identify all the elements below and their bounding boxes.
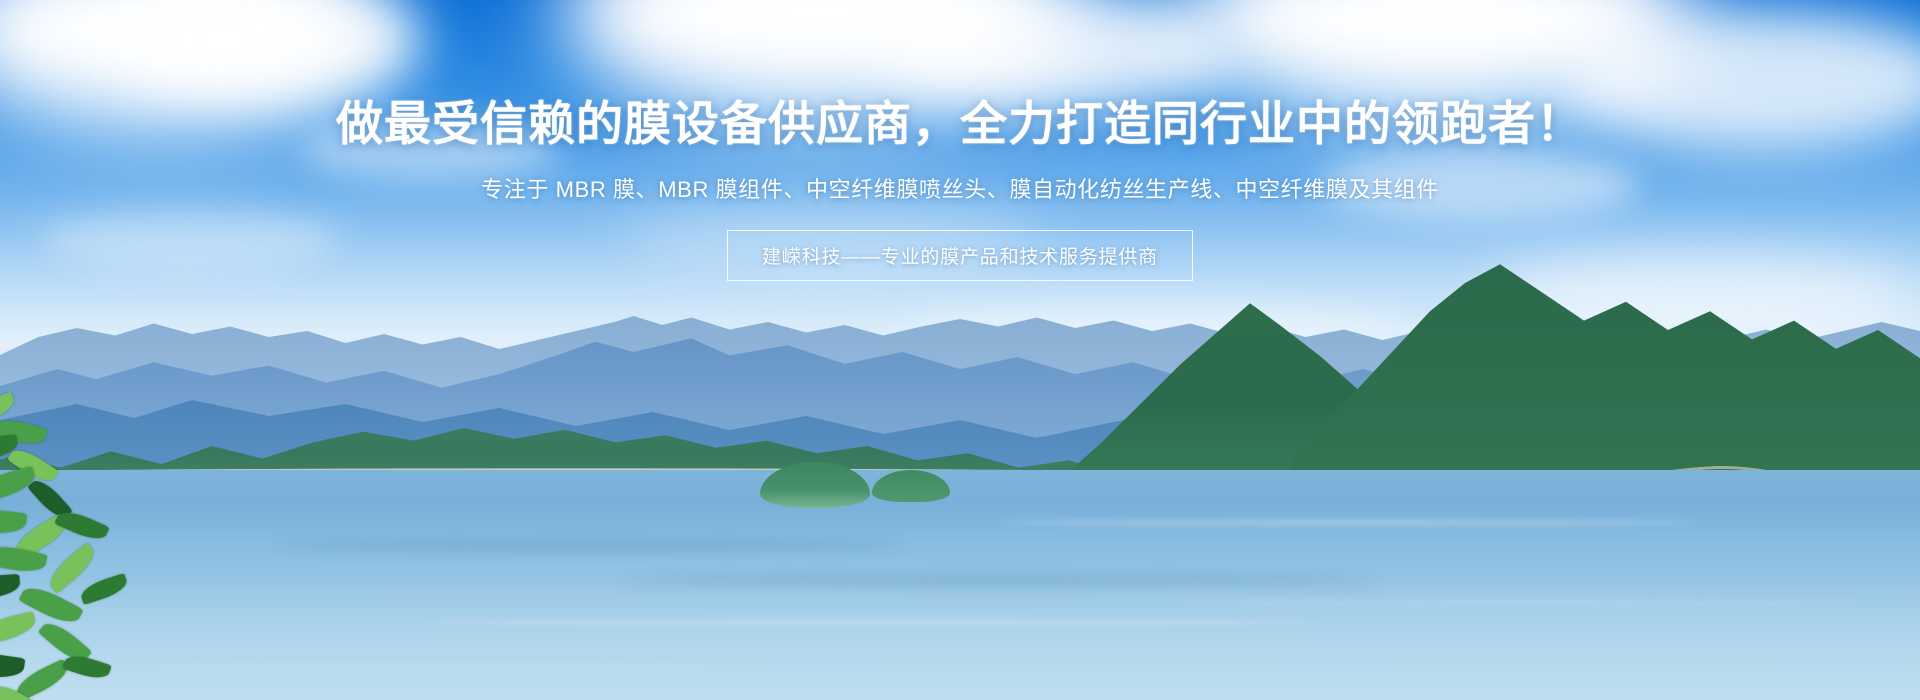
banner-headline: 做最受信赖的膜设备供应商，全力打造同行业中的领跑者！ xyxy=(336,99,1584,152)
cloud-shape xyxy=(40,210,340,270)
tagline-box: 建嵘科技——专业的膜产品和技术服务提供商 xyxy=(727,230,1193,281)
water-highlight xyxy=(1180,600,1860,605)
foreground-tree xyxy=(0,370,230,700)
water-highlight xyxy=(1000,520,1700,525)
water-reflection xyxy=(280,540,900,550)
banner-subtitle: 专注于 MBR 膜、MBR 膜组件、中空纤维膜喷丝头、膜自动化纺丝生产线、中空纤… xyxy=(481,176,1439,205)
water-reflection xyxy=(620,575,1380,585)
hero-banner: 做最受信赖的膜设备供应商，全力打造同行业中的领跑者！ 专注于 MBR 膜、MBR… xyxy=(0,0,1920,700)
water-highlight xyxy=(420,620,1320,625)
banner-tagline: 建嵘科技——专业的膜产品和技术服务提供商 xyxy=(762,242,1158,269)
